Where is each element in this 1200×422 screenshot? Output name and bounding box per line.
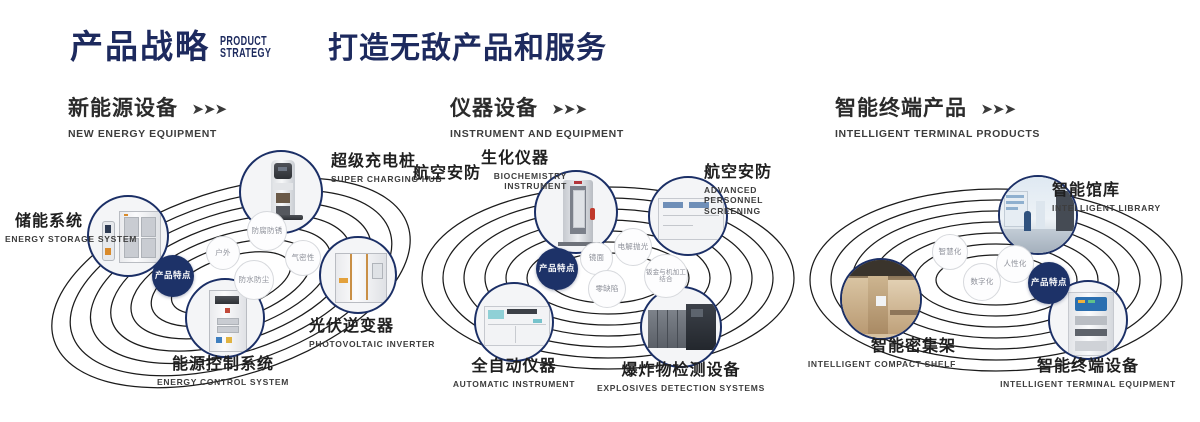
inverter-photo xyxy=(321,238,395,312)
header: 产品战略 PRODUCT STRATEGY 打造无敌产品和服务 xyxy=(0,0,1200,86)
chevron-right-icon: ➤➤➤ xyxy=(551,100,586,118)
bubble-label: 智慧化 xyxy=(938,248,961,256)
section-title-en: INTELLIGENT TERMINAL PRODUCTS xyxy=(835,128,1040,140)
label-cn: 生化仪器 xyxy=(481,150,567,168)
inverter-cabinet-icon xyxy=(335,253,387,303)
bubble-label: 零缺陷 xyxy=(595,285,618,293)
label-cn: 能源控制系统 xyxy=(123,356,323,374)
label-en: INTELLIGENT LIBRARY xyxy=(1052,203,1161,214)
section-title-cn: 仪器设备 xyxy=(450,98,538,119)
detection-tower-icon xyxy=(686,304,716,350)
core-badge-label: 产品特点 xyxy=(1031,278,1067,288)
bubble-digital: 数字化 xyxy=(963,263,1001,301)
section-title-cn: 新能源设备 xyxy=(68,98,178,119)
section-title-cn: 智能终端产品 xyxy=(835,98,967,119)
label-cn: 航空安防 xyxy=(413,165,481,183)
cluster-instrument: 航空安防 生化仪器 BIOCHEMISTRY INSTRUMENT 航空安防 A… xyxy=(408,150,808,410)
section-title-en: NEW ENERGY EQUIPMENT xyxy=(68,128,226,140)
bubble-waterproof-dustproof: 防水防尘 xyxy=(234,260,274,300)
label-intelligent-compact-shelf: 智能密集架 INTELLIGENT COMPACT SHELF xyxy=(776,338,956,369)
node-automatic-instrument[interactable] xyxy=(474,282,554,362)
section-title-en: INSTRUMENT AND EQUIPMENT xyxy=(450,128,624,140)
control-cabinet-icon xyxy=(209,290,247,352)
label-en: ADVANCED PERSONNEL SCREENING xyxy=(704,185,800,217)
bubble-label: 数字化 xyxy=(970,278,993,286)
label-energy-control-system: 能源控制系统 ENERGY CONTROL SYSTEM xyxy=(123,356,323,387)
kiosk-icon xyxy=(1068,292,1114,356)
product-strategy-infographic: 产品战略 PRODUCT STRATEGY 打造无敌产品和服务 新能源设备 ➤➤… xyxy=(0,0,1200,422)
bubble-label: 人性化 xyxy=(1003,260,1026,268)
label-energy-storage: 储能系统 ENERGY STORAGE SYSTEM xyxy=(5,213,83,244)
label-intelligent-terminal-equipment: 智能终端设备 INTELLIGENT TERMINAL EQUIPMENT xyxy=(988,358,1188,389)
bubble-label: 防水防尘 xyxy=(239,276,270,284)
bubble-anticorrosion: 防腐防锈 xyxy=(247,211,287,251)
label-advanced-personnel-screening: 航空安防 ADVANCED PERSONNEL SCREENING xyxy=(704,164,800,216)
brand-title-en: PRODUCT STRATEGY xyxy=(220,35,271,64)
brand-en-line1: PRODUCT xyxy=(220,35,271,48)
label-aviation-security-left: 航空安防 xyxy=(413,165,481,183)
node-intelligent-compact-shelf[interactable] xyxy=(840,258,922,340)
compact-shelf-photo xyxy=(842,260,920,338)
node-photovoltaic-inverter[interactable] xyxy=(319,236,397,314)
label-cn: 储能系统 xyxy=(5,213,83,231)
bubble-zero-defect: 零缺陷 xyxy=(588,270,626,308)
label-biochemistry-instrument: 生化仪器 BIOCHEMISTRY INSTRUMENT xyxy=(481,150,567,192)
analyzer-icon xyxy=(484,306,550,346)
bubble-label: 防腐防锈 xyxy=(252,227,283,235)
label-cn: 航空安防 xyxy=(704,164,800,182)
cluster-intelligent-terminal: 智能馆库 INTELLIGENT LIBRARY 智能密集架 INTELLIGE… xyxy=(800,150,1200,410)
brand-lockup: 产品战略 PRODUCT STRATEGY xyxy=(70,30,291,63)
cluster-new-energy: 储能系统 ENERGY STORAGE SYSTEM 超级充电桩 SUPER C… xyxy=(35,150,435,410)
bubble-electropolishing: 电解抛光 xyxy=(614,228,652,266)
label-en: ENERGY CONTROL SYSTEM xyxy=(123,377,323,388)
node-explosives-detection[interactable] xyxy=(640,286,722,368)
core-badge-product-features: 产品特点 xyxy=(1028,262,1070,304)
core-badge-product-features: 产品特点 xyxy=(152,255,194,297)
label-cn: 智能馆库 xyxy=(1052,182,1161,200)
label-en: INTELLIGENT COMPACT SHELF xyxy=(776,359,956,370)
automatic-instrument-photo xyxy=(476,284,552,360)
bubble-label: 钣金与机加工结合 xyxy=(645,269,687,284)
brand-title-cn: 产品战略 xyxy=(70,30,210,63)
section-header-instrument: 仪器设备 ➤➤➤ INSTRUMENT AND EQUIPMENT xyxy=(450,98,624,140)
bubble-label: 户外 xyxy=(215,249,230,257)
label-explosives-detection: 爆炸物检测设备 EXPLOSIVES DETECTION SYSTEMS xyxy=(581,362,781,393)
detection-cabinet-icon xyxy=(648,310,688,348)
bubble-outdoor: 户外 xyxy=(206,236,240,270)
chevron-right-icon: ➤➤➤ xyxy=(980,100,1015,118)
bubble-label: 气密性 xyxy=(291,254,314,262)
person-figure-icon xyxy=(1024,211,1031,231)
label-en: ENERGY STORAGE SYSTEM xyxy=(5,234,83,245)
label-cn: 智能终端设备 xyxy=(988,358,1188,376)
label-cn: 爆炸物检测设备 xyxy=(581,362,781,380)
section-header-new-energy: 新能源设备 ➤➤➤ NEW ENERGY EQUIPMENT xyxy=(68,98,226,140)
bubble-sheetmetal-machining: 钣金与机加工结合 xyxy=(644,254,688,298)
bubble-label: 镜面 xyxy=(589,254,604,262)
headline: 打造无敌产品和服务 xyxy=(328,34,607,64)
label-cn: 智能密集架 xyxy=(776,338,956,356)
core-badge-product-features: 产品特点 xyxy=(536,248,578,290)
bubble-airtightness: 气密性 xyxy=(285,240,321,276)
screening-gate-icon xyxy=(563,180,593,244)
label-en: BIOCHEMISTRY INSTRUMENT xyxy=(481,171,567,192)
label-intelligent-library: 智能馆库 INTELLIGENT LIBRARY xyxy=(1052,182,1161,213)
core-badge-label: 产品特点 xyxy=(155,271,191,281)
section-header-intelligent-terminal: 智能终端产品 ➤➤➤ INTELLIGENT TERMINAL PRODUCTS xyxy=(835,98,1040,140)
chevron-right-icon: ➤➤➤ xyxy=(191,100,226,118)
charging-pile-icon xyxy=(271,160,295,216)
label-en: EXPLOSIVES DETECTION SYSTEMS xyxy=(581,383,781,394)
label-en: INTELLIGENT TERMINAL EQUIPMENT xyxy=(988,379,1188,390)
bubble-intelligent: 智慧化 xyxy=(932,234,968,270)
bubble-label: 电解抛光 xyxy=(618,243,649,251)
core-badge-label: 产品特点 xyxy=(539,264,575,274)
brand-en-line2: STRATEGY xyxy=(220,47,271,60)
explosives-detection-photo xyxy=(642,288,720,366)
